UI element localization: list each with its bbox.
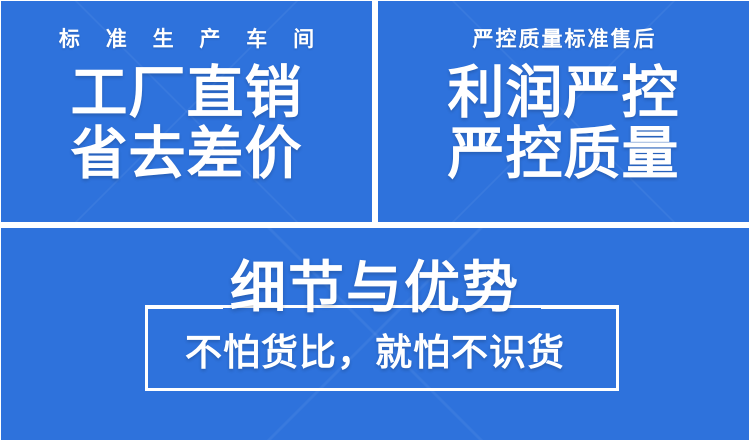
- panel-factory-direct-headline-line1: 工厂直销: [71, 64, 303, 123]
- panel-factory-direct-content: 标 准 生 产 车 间 工厂直销 省去差价: [1, 1, 372, 222]
- details-title: 细节与优势: [1, 260, 749, 316]
- panel-factory-direct-kicker: 标 准 生 产 车 间: [49, 29, 324, 50]
- panel-quality-control-headline-line2: 严控质量: [448, 125, 680, 184]
- panel-details-advantages: 细节与优势 不怕货比，就怕不识货: [1, 228, 749, 440]
- details-subtitle: 不怕货比，就怕不识货: [1, 334, 749, 371]
- panel-factory-direct: 标 准 生 产 车 间 工厂直销 省去差价: [1, 1, 372, 222]
- panel-quality-control-kicker: 严控质量标准售后: [471, 29, 657, 50]
- panel-quality-control-content: 严控质量标准售后 利润严控 严控质量: [378, 1, 749, 222]
- panel-quality-control: 严控质量标准售后 利润严控 严控质量: [378, 1, 749, 222]
- panel-quality-control-headline-line1: 利润严控: [448, 64, 680, 123]
- panel-factory-direct-headline-line2: 省去差价: [71, 125, 303, 184]
- promo-banner: 标 准 生 产 车 间 工厂直销 省去差价 严控质量标准售后 利润严控 严控质量…: [0, 0, 750, 440]
